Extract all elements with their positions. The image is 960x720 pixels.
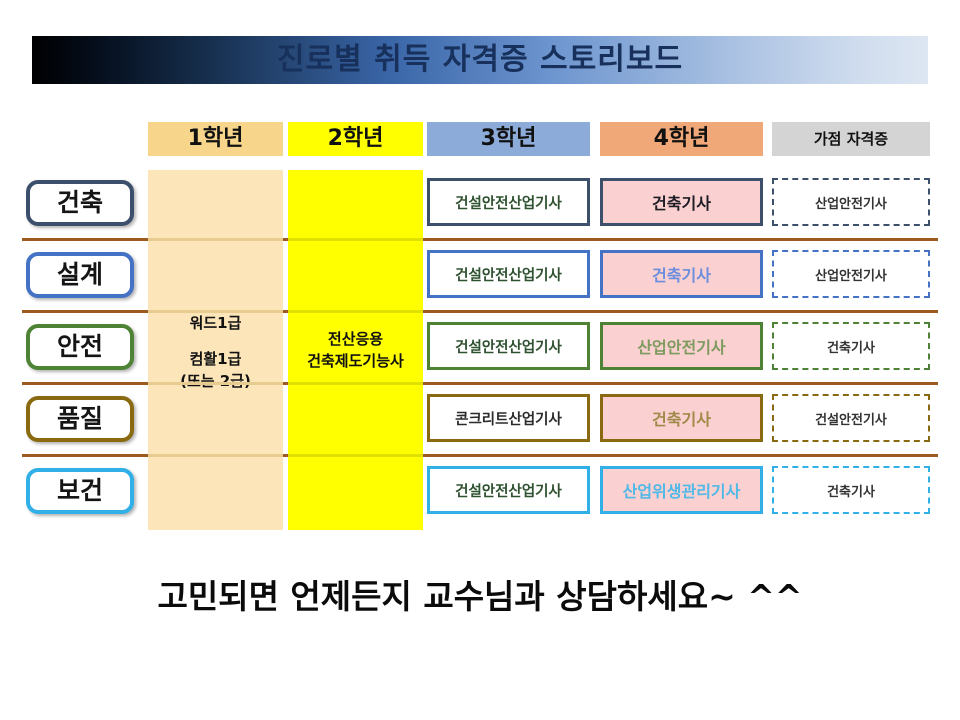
- column-header-year4: 4학년: [600, 122, 763, 156]
- cert-bonus-row1[interactable]: 산업안전기사: [772, 178, 930, 226]
- row-label-text: 보건: [57, 476, 103, 505]
- cert-bonus-row3[interactable]: 건축기사: [772, 322, 930, 370]
- row-label-5[interactable]: 보건: [26, 468, 134, 514]
- cert-year4-row3[interactable]: 산업안전기사: [600, 322, 763, 370]
- row-label-text: 건축: [57, 188, 103, 217]
- cert-label: 건설안전산업기사: [455, 480, 562, 501]
- cert-year3-row1[interactable]: 건설안전산업기사: [427, 178, 590, 226]
- band-separator: [148, 238, 283, 241]
- row-label-2[interactable]: 설계: [26, 252, 134, 298]
- footer-note: 고민되면 언제든지 교수님과 상담하세요~ ^^: [0, 570, 960, 618]
- year1-spacer: [148, 334, 283, 348]
- year2-merged-cell: 전산응용 건축제도기능사: [288, 328, 423, 372]
- cert-label: 산업안전기사: [637, 334, 725, 358]
- cert-label: 건축기사: [652, 406, 711, 430]
- cert-year3-row5[interactable]: 건설안전산업기사: [427, 466, 590, 514]
- cert-label: 콘크리트산업기사: [455, 408, 562, 429]
- band-separator: [148, 310, 283, 313]
- year1-line1: 워드1급: [190, 314, 242, 332]
- cert-year3-row4[interactable]: 콘크리트산업기사: [427, 394, 590, 442]
- year1-line3: (또는 2급): [180, 372, 251, 390]
- column-header-year2: 2학년: [288, 122, 423, 156]
- cert-year4-row4[interactable]: 건축기사: [600, 394, 763, 442]
- cert-label: 산업안전기사: [815, 193, 887, 212]
- slide-canvas: 진로별 취득 자격증 스토리보드 1학년 2학년 3학년 4학년 가점 자격증 …: [0, 0, 960, 720]
- cert-label: 건설안전산업기사: [455, 336, 562, 357]
- band-separator: [288, 454, 423, 457]
- cert-label: 건설안전산업기사: [455, 192, 562, 213]
- cert-label: 건축기사: [652, 262, 711, 286]
- cert-year3-row3[interactable]: 건설안전산업기사: [427, 322, 590, 370]
- cert-bonus-row4[interactable]: 건설안전기사: [772, 394, 930, 442]
- row-label-text: 안전: [57, 332, 103, 361]
- year1-line2: 컴활1급: [190, 350, 242, 368]
- row-label-text: 설계: [57, 260, 103, 289]
- cert-year4-row2[interactable]: 건축기사: [600, 250, 763, 298]
- row-label-3[interactable]: 안전: [26, 324, 134, 370]
- cert-label: 건축기사: [827, 481, 875, 500]
- band-separator: [148, 382, 283, 385]
- page-title: 진로별 취득 자격증 스토리보드: [32, 36, 928, 84]
- cert-year3-row2[interactable]: 건설안전산업기사: [427, 250, 590, 298]
- cert-year4-row5[interactable]: 산업위생관리기사: [600, 466, 763, 514]
- column-header-year3: 3학년: [427, 122, 590, 156]
- row-label-text: 품질: [57, 404, 103, 433]
- band-separator: [288, 310, 423, 313]
- cert-label: 건설안전기사: [815, 409, 887, 428]
- year1-merged-cell: 워드1급 컴활1급 (또는 2급): [148, 312, 283, 392]
- year2-line1: 전산응용: [328, 330, 383, 348]
- cert-label: 산업안전기사: [815, 265, 887, 284]
- cert-label: 건축기사: [652, 190, 711, 214]
- row-label-4[interactable]: 품질: [26, 396, 134, 442]
- cert-label: 산업위생관리기사: [623, 478, 741, 502]
- column-header-year1: 1학년: [148, 122, 283, 156]
- year2-line2: 건축제도기능사: [307, 352, 404, 370]
- cert-year4-row1[interactable]: 건축기사: [600, 178, 763, 226]
- cert-label: 건축기사: [827, 337, 875, 356]
- row-label-1[interactable]: 건축: [26, 180, 134, 226]
- cert-bonus-row2[interactable]: 산업안전기사: [772, 250, 930, 298]
- band-separator: [148, 454, 283, 457]
- cert-label: 건설안전산업기사: [455, 264, 562, 285]
- title-bar: 진로별 취득 자격증 스토리보드: [32, 36, 928, 84]
- column-header-bonus: 가점 자격증: [772, 122, 930, 156]
- band-separator: [288, 382, 423, 385]
- band-separator: [288, 238, 423, 241]
- cert-bonus-row5[interactable]: 건축기사: [772, 466, 930, 514]
